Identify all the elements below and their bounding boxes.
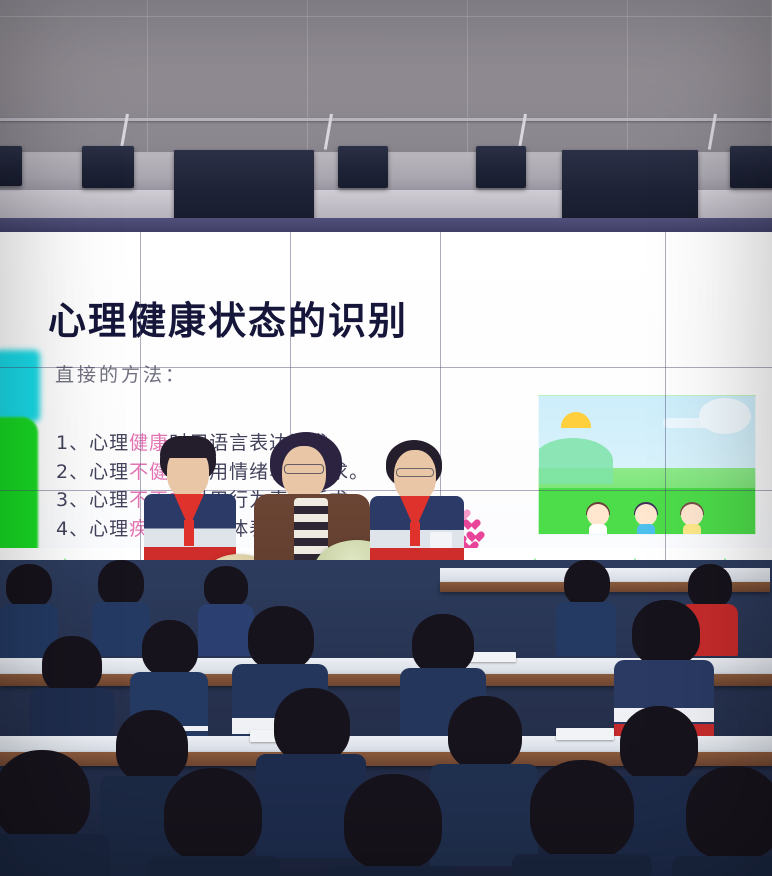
student-torso: [326, 866, 460, 876]
audience-student: [512, 760, 652, 876]
hair-top: [160, 436, 216, 458]
slide-title: 心理健康状态的识别: [48, 290, 408, 345]
audience-student: [672, 766, 772, 876]
ceiling-panel: [628, 0, 772, 152]
head-shape: [681, 504, 703, 526]
stage-light: [476, 146, 526, 188]
student-head: [0, 750, 90, 842]
torso-shape: [637, 524, 655, 535]
red-scarf-tail: [184, 520, 194, 546]
glasses-icon: [284, 464, 324, 474]
slide-decor-cyan: [0, 350, 40, 422]
slide-subtitle: 直接的方法：: [55, 360, 187, 387]
audience-student: [148, 768, 280, 876]
torso-shape: [589, 524, 607, 535]
head-shape: [635, 504, 657, 526]
stage-light: [0, 146, 22, 186]
student-torso: [512, 854, 652, 876]
student-head: [632, 600, 700, 666]
bullet-number: 2、: [56, 461, 89, 483]
cartoon-illustration: [538, 395, 756, 535]
student-head: [248, 606, 314, 670]
cloud-icon: [663, 418, 709, 428]
student-head: [42, 636, 102, 694]
ceiling-speaker: [562, 150, 698, 222]
bullet-pre: 心理: [89, 461, 129, 483]
student-torso: [148, 856, 280, 876]
classroom-photo: 心理健康状态的识别 直接的方法： 1、心理健康时用语言表达诉求。: [0, 0, 772, 876]
student-head: [142, 620, 198, 676]
stage-light: [338, 146, 388, 188]
student-torso: [672, 856, 772, 876]
head-shape: [587, 504, 609, 526]
audience-student: [326, 774, 460, 876]
lighting-track: [0, 118, 772, 121]
slide-decor-green: [0, 417, 38, 567]
glasses-icon: [396, 468, 434, 477]
uniform-badge: [430, 532, 452, 548]
bullet-number: 1、: [56, 432, 89, 454]
bullet-pre: 心理: [89, 518, 129, 540]
student-head: [686, 766, 772, 860]
audience-seating: [0, 560, 772, 876]
ceiling-speaker: [174, 150, 314, 222]
bullet-number: 3、: [56, 489, 89, 511]
bullet-pre: 心理: [89, 489, 129, 511]
sun-icon: [561, 412, 591, 428]
torso-shape: [683, 524, 701, 535]
stage-light: [730, 146, 772, 188]
screen-top-trim: [0, 218, 772, 232]
stage-light: [82, 146, 134, 188]
bullet-number: 4、: [56, 518, 89, 540]
student-head: [164, 768, 262, 862]
student-head: [564, 560, 610, 606]
student-head: [204, 566, 248, 608]
student-torso: [0, 834, 110, 876]
student-head: [412, 614, 474, 674]
student-head: [448, 696, 522, 770]
student-head: [344, 774, 442, 870]
student-head: [6, 564, 52, 608]
ceiling-panel: [148, 0, 308, 152]
audience-student: [0, 750, 110, 876]
student-torso: [556, 602, 616, 656]
ceiling: [0, 0, 772, 232]
student-head: [274, 688, 350, 762]
bullet-pre: 心理: [89, 432, 129, 454]
hill-shape: [538, 438, 613, 484]
ceiling-seam: [0, 16, 772, 17]
student-head: [530, 760, 634, 860]
red-scarf-tail: [410, 522, 420, 546]
cloud-icon: [699, 398, 751, 434]
screen-bezel-seam: [0, 367, 772, 368]
audience-student: [556, 560, 616, 656]
student-head: [98, 560, 144, 606]
ceiling-panel: [468, 0, 628, 152]
ceiling-panel: [308, 0, 468, 152]
screen-bezel-seam: [665, 232, 666, 602]
